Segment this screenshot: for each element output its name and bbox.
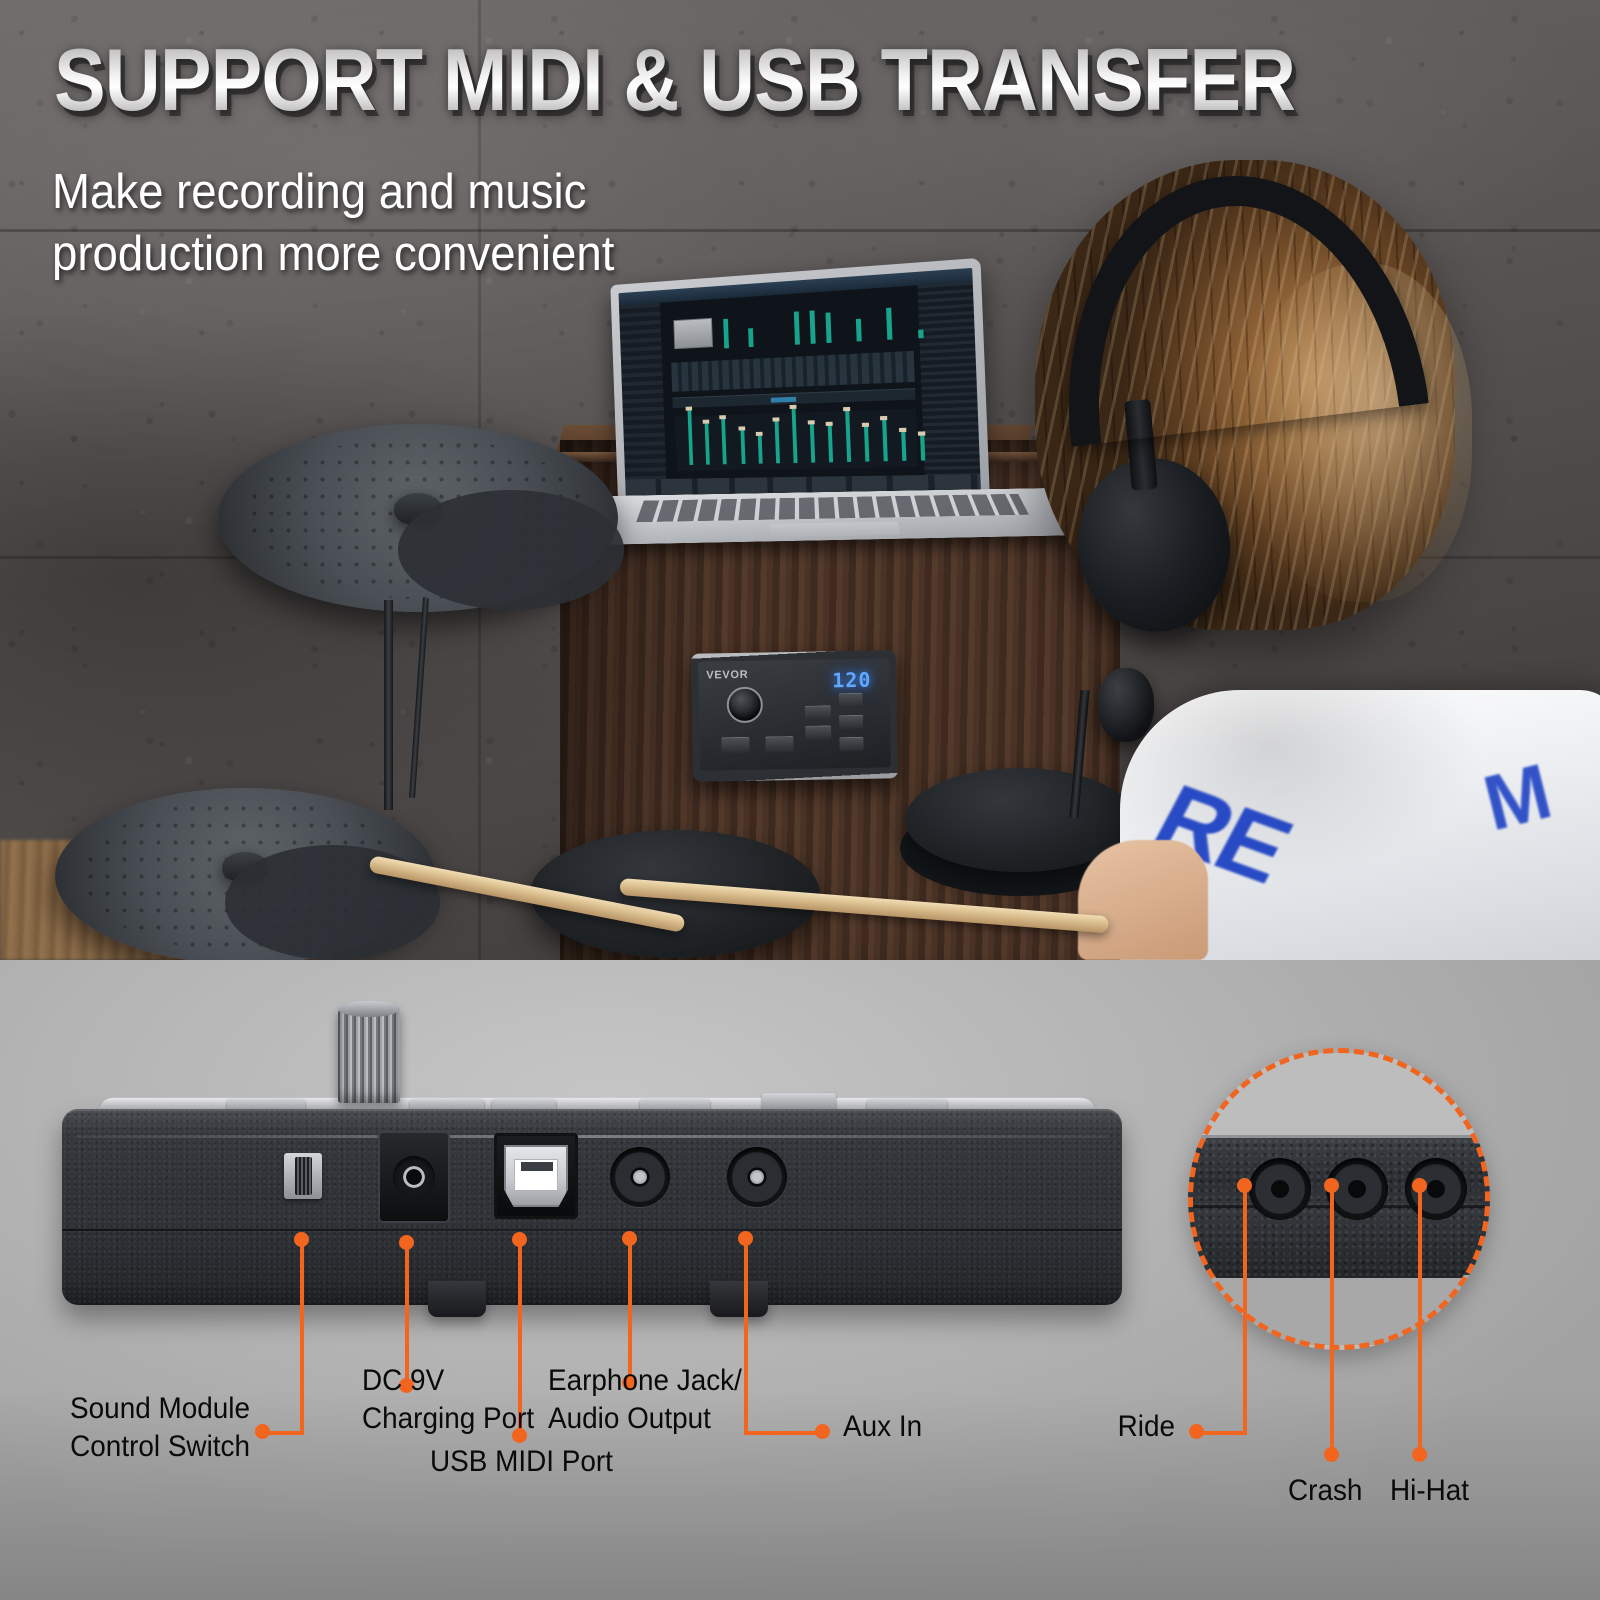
callout-label-usb-midi-port: USB MIDI Port	[430, 1443, 613, 1481]
vevor-brand-logo: VEVOR	[706, 669, 748, 682]
daw-software-window	[619, 268, 982, 501]
callout-label-aux-in: Aux In	[843, 1408, 922, 1446]
leader-line-aux-h	[744, 1431, 822, 1435]
daw-browser-panel	[619, 303, 666, 480]
dc-barrel-jack-icon[interactable]	[378, 1131, 450, 1223]
callout-label-earphone-jack-audio-output: Earphone Jack/ Audio Output	[548, 1362, 742, 1439]
leader-dot-earphone	[622, 1231, 637, 1246]
drum-sound-module: VEVOR 120	[691, 650, 898, 782]
leader-dot-ride	[1237, 1178, 1252, 1193]
product-infographic: VEVOR 120 RE M	[0, 0, 1600, 1600]
leader-line-aux-v	[744, 1238, 748, 1434]
magnified-circle-icon	[1188, 1048, 1490, 1350]
tshirt-graphic-side: M	[1475, 734, 1600, 877]
leader-dot-usb	[512, 1232, 527, 1247]
leader-line-ride-v	[1243, 1185, 1247, 1435]
callout-label-ride: Ride	[1012, 1408, 1175, 1446]
module-button[interactable]	[765, 736, 793, 752]
daw-step-sequencer	[671, 351, 915, 392]
leader-dot-switch	[294, 1232, 309, 1247]
aux-in-jack-icon[interactable]	[727, 1147, 787, 1207]
module-button[interactable]	[805, 705, 831, 719]
module-master-knob[interactable]	[726, 687, 763, 724]
leader-dot-hihat-end	[1412, 1447, 1427, 1462]
callout-label-hi-hat: Hi-Hat	[1390, 1472, 1469, 1510]
cymbal-pad-upper-shadow	[398, 490, 624, 610]
daw-piano-roll-icon	[673, 318, 713, 349]
volume-knob[interactable]	[338, 1007, 400, 1103]
daw-note-clips	[719, 304, 909, 349]
daw-playlist-panel	[917, 282, 980, 476]
hero-headline: SUPPORT MIDI & USB TRANSFER	[54, 36, 1295, 124]
leader-dot-ride-end	[1189, 1424, 1204, 1439]
ride-jack-icon[interactable]	[1249, 1158, 1311, 1220]
leader-line-crash	[1330, 1185, 1334, 1453]
laptop-trackpad	[771, 521, 900, 537]
module-button[interactable]	[805, 725, 831, 739]
module-led-display: 120	[832, 668, 872, 693]
module-foot-right	[710, 1281, 768, 1317]
callout-label-sound-module-control-switch: Sound Module Control Switch	[18, 1390, 251, 1467]
module-foot-left	[428, 1281, 486, 1317]
laptop-keyboard-base	[582, 488, 1085, 545]
leader-line-switch-v	[300, 1239, 304, 1435]
sound-module-rear-view	[62, 1085, 1122, 1307]
module-rear-housing	[62, 1109, 1122, 1305]
leader-dot-crash	[1324, 1178, 1339, 1193]
laptop-keys	[636, 494, 1029, 523]
leader-dot-dc	[399, 1235, 414, 1250]
leader-dot-hihat	[1412, 1178, 1427, 1193]
module-button[interactable]	[839, 737, 863, 751]
leader-line-earphone	[628, 1238, 632, 1381]
module-front-face: VEVOR 120	[698, 658, 891, 770]
leader-dot-crash-end	[1324, 1447, 1339, 1462]
module-button[interactable]	[839, 693, 863, 707]
volume-knob-cap	[338, 1001, 400, 1017]
laptop-screen	[610, 258, 990, 513]
module-shell-seam	[62, 1229, 1122, 1231]
sound-module-control-switch-icon[interactable]	[284, 1153, 322, 1199]
daw-mixer-faders	[675, 409, 918, 471]
drummer-arm	[1078, 840, 1208, 960]
earphone-jack-icon[interactable]	[610, 1147, 670, 1207]
module-button[interactable]	[721, 737, 749, 753]
module-button[interactable]	[839, 715, 863, 729]
callout-label-dc-9v-charging-port: DC 9V Charging Port	[362, 1362, 534, 1439]
leader-dot-aux-end	[815, 1424, 830, 1439]
cymbal-stand-rod	[384, 600, 393, 810]
lifestyle-photo-section: VEVOR 120 RE M	[0, 0, 1600, 960]
module-top-highlight	[76, 1135, 1108, 1138]
leader-line-hihat	[1418, 1185, 1422, 1453]
usb-b-port-icon[interactable]	[494, 1133, 578, 1219]
hero-subheadline: Make recording and music production more…	[52, 162, 614, 285]
leader-dot-switch-end	[255, 1424, 270, 1439]
leader-dot-aux	[738, 1231, 753, 1246]
callout-label-crash: Crash	[1288, 1472, 1362, 1510]
mic-capsule	[1098, 668, 1154, 742]
